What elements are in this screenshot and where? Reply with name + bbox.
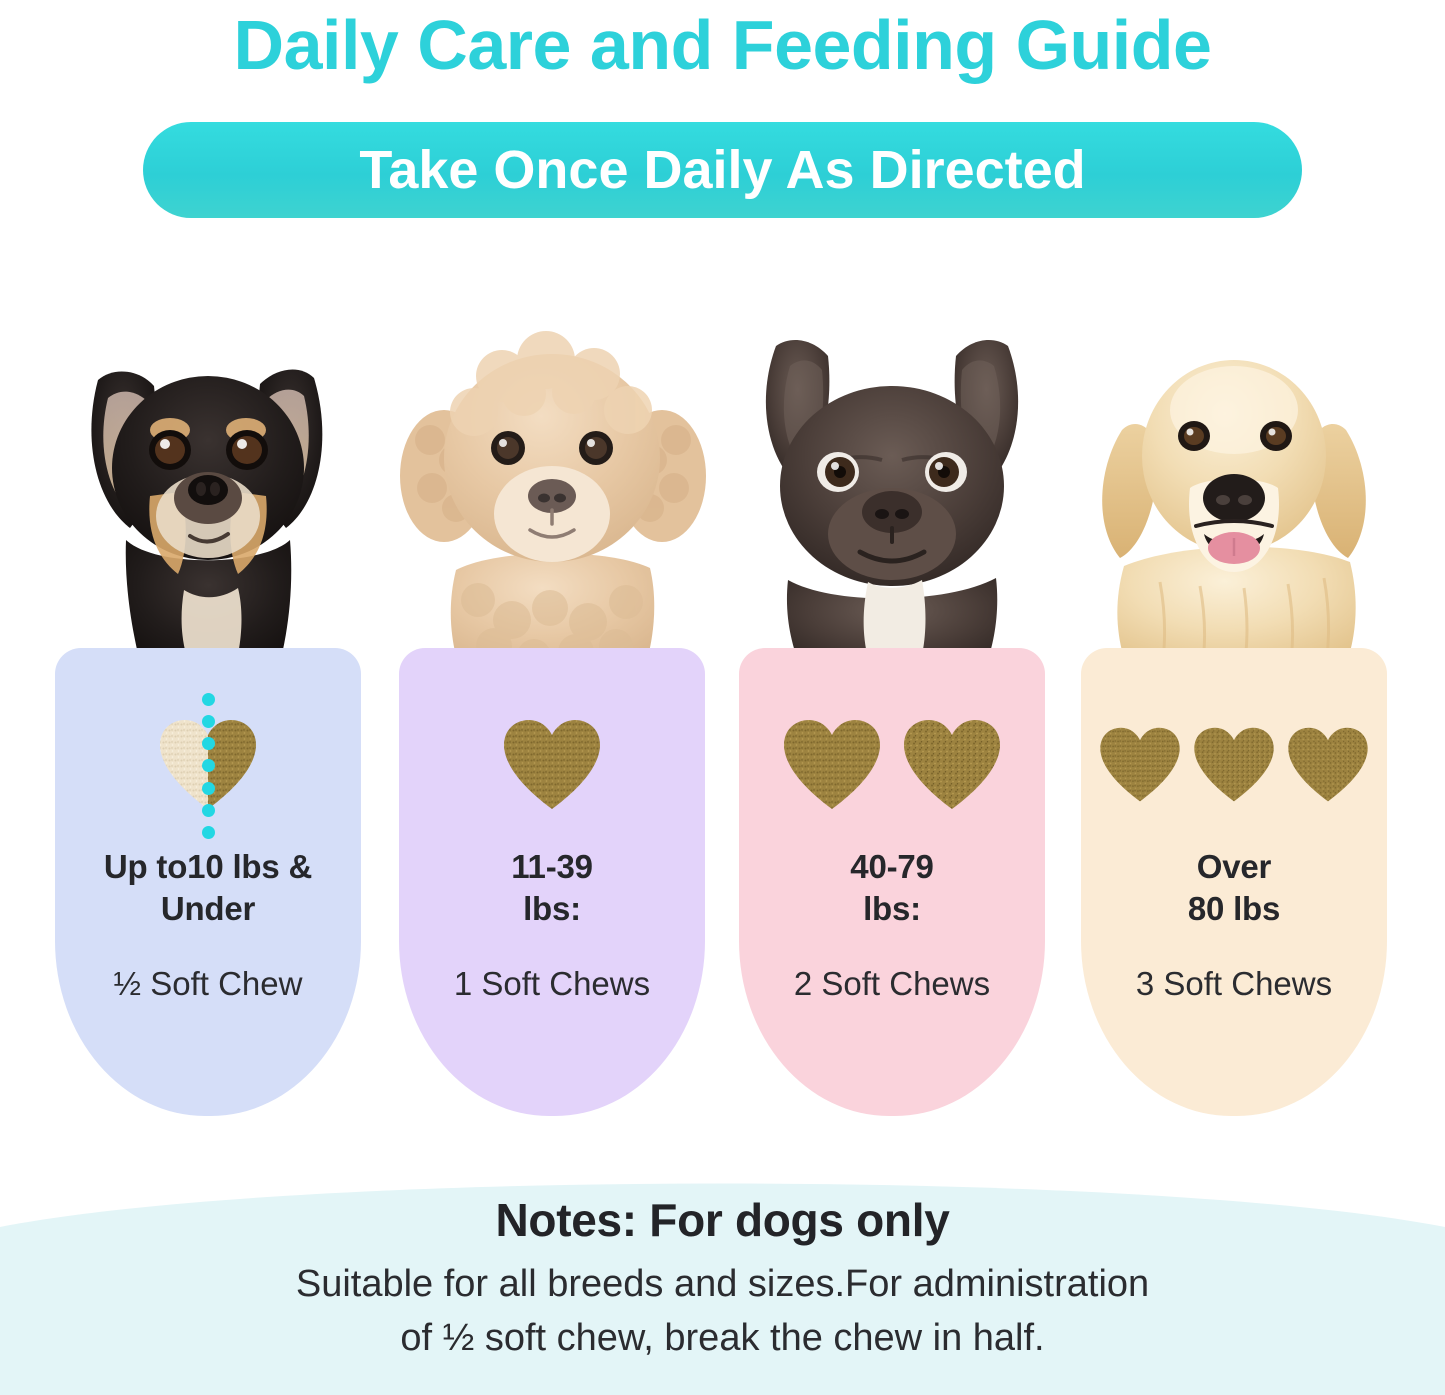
- notes-line-1: Suitable for all breeds and sizes.For ad…: [0, 1263, 1445, 1306]
- dose-label-2: 2 Soft Chews: [739, 964, 1045, 1004]
- dosage-card-3: Over 80 lbs 3 Soft Chews: [1064, 290, 1404, 1150]
- dosage-card-1: 11-39 lbs: 1 Soft Chews: [382, 290, 722, 1150]
- weight-label-1: 11-39 lbs:: [399, 846, 705, 930]
- dose-label-3: 3 Soft Chews: [1081, 964, 1387, 1004]
- chihuahua-icon: [38, 290, 378, 670]
- chew-icon: [1191, 725, 1277, 805]
- dosage-card-0: Up to10 lbs & Under ½ Soft Chew: [38, 290, 378, 1150]
- dosage-panel-0: Up to10 lbs & Under ½ Soft Chew: [55, 648, 361, 1116]
- dose-label-1: 1 Soft Chews: [399, 964, 705, 1004]
- dog-photo-chihuahua: [38, 290, 378, 670]
- directions-banner-label: Take Once Daily As Directed: [359, 139, 1085, 201]
- page-title: Daily Care and Feeding Guide: [0, 2, 1445, 88]
- chew-icon: [1285, 725, 1371, 805]
- notes-footer: Notes: For dogs only Suitable for all br…: [0, 1165, 1445, 1395]
- dosage-panel-2: 40-79 lbs: 2 Soft Chews: [739, 648, 1045, 1116]
- notes-title: Notes: For dogs only: [0, 1193, 1445, 1247]
- weight-label-3: Over 80 lbs: [1081, 846, 1387, 930]
- dosage-cards: Up to10 lbs & Under ½ Soft Chew: [0, 290, 1445, 1150]
- dose-label-0: ½ Soft Chew: [55, 964, 361, 1004]
- golden-retriever-icon: [1064, 290, 1404, 670]
- chew-row-2: [739, 704, 1045, 826]
- dosage-panel-3: Over 80 lbs 3 Soft Chews: [1081, 648, 1387, 1116]
- weight-label-0: Up to10 lbs & Under: [55, 846, 361, 930]
- dog-photo-poodle: [382, 290, 722, 670]
- chew-icon: [1097, 725, 1183, 805]
- dosage-card-2: 40-79 lbs: 2 Soft Chews: [722, 290, 1062, 1150]
- header: Daily Care and Feeding Guide Take Once D…: [0, 0, 1445, 240]
- chew-row-3: [1081, 704, 1387, 826]
- chew-icon: [500, 717, 604, 813]
- break-line-dots: [201, 693, 215, 839]
- dosage-panel-1: 11-39 lbs: 1 Soft Chews: [399, 648, 705, 1116]
- french-bulldog-icon: [722, 290, 1062, 670]
- poodle-icon: [382, 290, 722, 670]
- notes-line-2: of ½ soft chew, break the chew in half.: [0, 1317, 1445, 1360]
- dog-photo-french-bulldog: [722, 290, 1062, 670]
- dog-photo-golden-retriever: [1064, 290, 1404, 670]
- chew-icon: [780, 717, 884, 813]
- directions-banner: Take Once Daily As Directed: [143, 122, 1302, 218]
- chew-row-1: [399, 704, 705, 826]
- chew-icon: [900, 717, 1004, 813]
- weight-label-2: 40-79 lbs:: [739, 846, 1045, 930]
- half-chew-icon: [156, 717, 260, 813]
- chew-row-0: [55, 704, 361, 826]
